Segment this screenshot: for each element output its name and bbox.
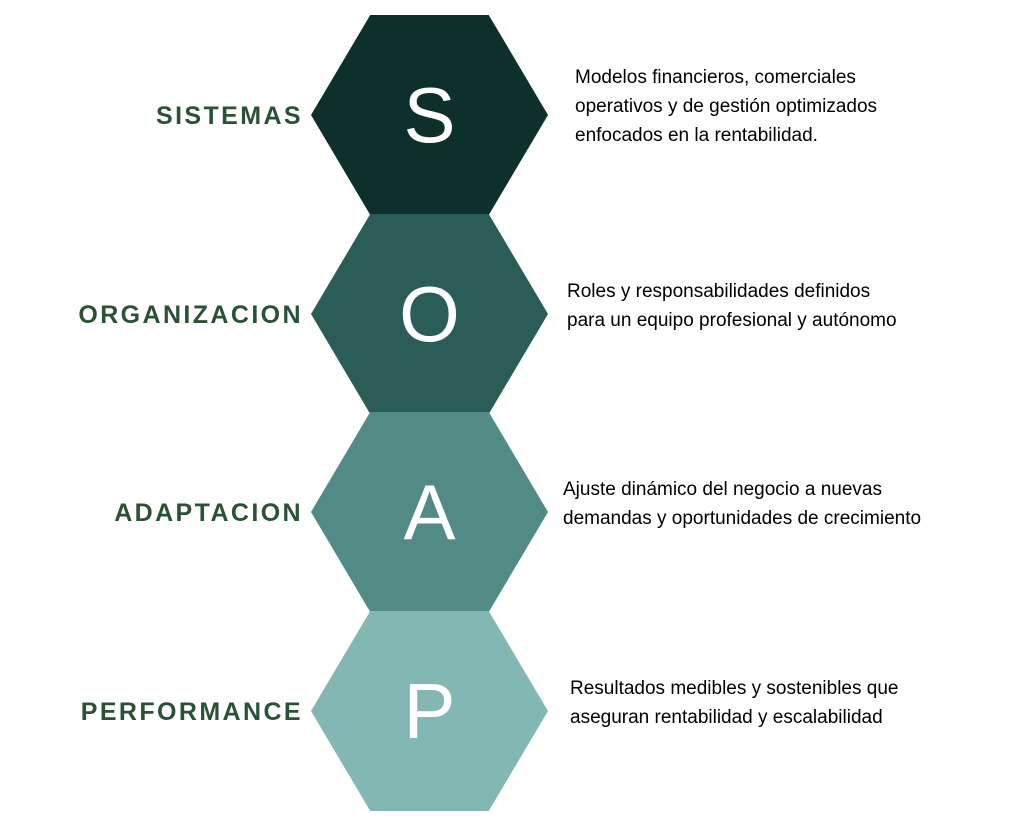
description-line: demandas y oportunidades de crecimiento: [563, 504, 957, 533]
diagram-row-adaptacion: ADAPTACION A Ajuste dinámico del negocio…: [0, 412, 1024, 612]
row-description-adaptacion: Ajuste dinámico del negocio a nuevas dem…: [563, 475, 957, 533]
hexagon-letter-p: P: [403, 672, 455, 750]
description-line: Resultados medibles y sostenibles que: [570, 674, 956, 703]
description-line: Roles y responsabilidades definidos: [567, 277, 957, 306]
row-description-performance: Resultados medibles y sostenibles que as…: [570, 674, 956, 732]
soap-acronym-diagram: SISTEMAS S Modelos financieros, comercia…: [0, 0, 1024, 822]
hexagon-letter-o: O: [399, 275, 460, 353]
diagram-row-organizacion: ORGANIZACION O Roles y responsabilidades…: [0, 214, 1024, 414]
hexagon-performance: P: [311, 611, 548, 811]
hexagon-organizacion: O: [311, 214, 548, 414]
diagram-row-sistemas: SISTEMAS S Modelos financieros, comercia…: [0, 15, 1024, 215]
row-description-organizacion: Roles y responsabilidades definidos para…: [567, 277, 957, 335]
row-label-adaptacion: ADAPTACION: [0, 501, 303, 526]
description-line: para un equipo profesional y autónomo: [567, 306, 957, 335]
hexagon-sistemas: S: [311, 15, 548, 215]
hexagon-letter-s: S: [403, 76, 455, 154]
description-line: Modelos financieros, comerciales: [575, 63, 957, 92]
diagram-row-performance: PERFORMANCE P Resultados medibles y sost…: [0, 611, 1024, 811]
hexagon-letter-a: A: [403, 473, 455, 551]
description-line: aseguran rentabilidad y escalabilidad: [570, 703, 956, 732]
row-label-sistemas: SISTEMAS: [0, 104, 303, 129]
row-description-sistemas: Modelos financieros, comerciales operati…: [575, 63, 957, 150]
hexagon-adaptacion: A: [311, 412, 548, 612]
row-label-performance: PERFORMANCE: [0, 700, 303, 725]
description-line: operativos y de gestión optimizados: [575, 92, 957, 121]
description-line: enfocados en la rentabilidad.: [575, 121, 957, 150]
description-line: Ajuste dinámico del negocio a nuevas: [563, 475, 957, 504]
row-label-organizacion: ORGANIZACION: [0, 303, 303, 328]
